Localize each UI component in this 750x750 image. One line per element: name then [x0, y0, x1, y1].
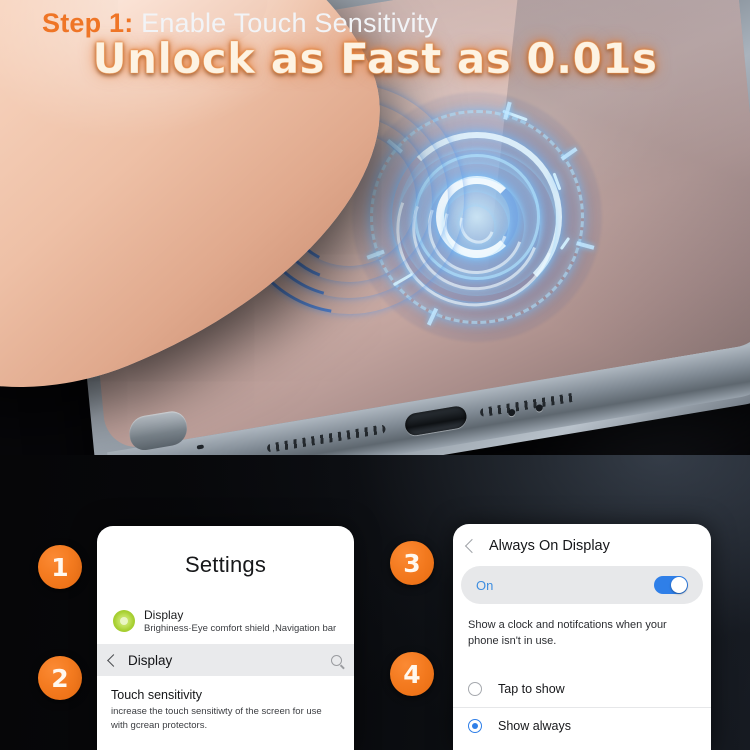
aod-toggle-switch[interactable]	[654, 576, 688, 594]
toggle-knob	[671, 577, 687, 593]
display-item-subtitle: Brighiness·Eye comfort shield ,Navigatio…	[144, 623, 336, 635]
step-number-label: Step 1:	[42, 8, 133, 38]
aod-title: Always On Display	[489, 538, 610, 554]
hero-headline: Unlock as Fast as 0.01s	[0, 34, 750, 83]
step-badge-4: 4	[390, 652, 434, 696]
aod-header: Always On Display	[453, 524, 711, 554]
chevron-left-icon[interactable]	[465, 539, 479, 553]
always-on-display-panel: Always On Display On Show a clock and no…	[453, 524, 711, 750]
display-item-title: Display	[144, 608, 336, 623]
touch-sensitivity-block[interactable]: Touch sensitivity increase the touch sen…	[97, 676, 354, 733]
display-sub-header: Display	[97, 644, 354, 676]
display-brightness-icon	[113, 610, 135, 632]
settings-title: Settings	[97, 552, 354, 578]
radio-unselected-icon[interactable]	[468, 682, 482, 696]
step-badge-2: 2	[38, 656, 82, 700]
touch-sensitivity-title: Touch sensitivity	[111, 688, 340, 702]
aod-toggle-row[interactable]: On	[461, 566, 703, 604]
fingerprint-scan-hud	[352, 92, 602, 342]
promo-page: Unlock as Fast as 0.01s Step 1: Enable T…	[0, 0, 750, 750]
aod-description: Show a clock and notifcations when your …	[453, 604, 711, 649]
search-icon[interactable]	[331, 655, 342, 666]
aod-option-show-always[interactable]: Show always	[453, 707, 711, 743]
aod-option-tap-to-show[interactable]: Tap to show	[453, 671, 711, 707]
step-headline: Enable Touch Sensitivity	[141, 8, 438, 38]
settings-item-display[interactable]: Display Brighiness·Eye comfort shield ,N…	[97, 608, 354, 634]
phone-antenna-slit	[197, 444, 204, 449]
speaker-grille-right	[480, 392, 576, 417]
step-badge-3: 3	[390, 541, 434, 585]
chevron-left-icon[interactable]	[107, 654, 120, 667]
display-item-text: Display Brighiness·Eye comfort shield ,N…	[144, 608, 336, 634]
aod-option-label: Tap to show	[498, 682, 565, 696]
usb-c-port	[404, 405, 467, 437]
radio-selected-icon[interactable]	[468, 719, 482, 733]
step-title: Step 1: Enable Touch Sensitivity	[42, 8, 438, 39]
aod-option-label: Show always	[498, 719, 571, 733]
speaker-grille-left	[267, 424, 386, 453]
aod-toggle-label: On	[476, 578, 493, 593]
step-badge-1: 1	[38, 545, 82, 589]
touch-sensitivity-description: increase the touch sensitiwty of the scr…	[111, 705, 340, 733]
display-header-label: Display	[128, 653, 321, 668]
settings-screenshot-panel: Settings Display Brighiness·Eye comfort …	[97, 526, 354, 750]
hero-image: Unlock as Fast as 0.01s	[0, 0, 750, 455]
